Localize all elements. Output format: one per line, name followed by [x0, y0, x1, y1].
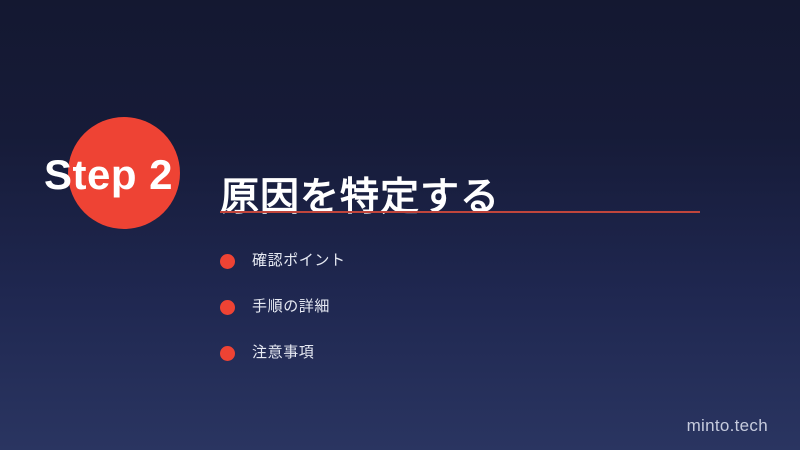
- bullet-item-label: 確認ポイント: [252, 251, 346, 271]
- list-item: 手順の詳細: [220, 284, 700, 330]
- list-item: 注意事項: [220, 330, 700, 376]
- page-title: 原因を特定する: [220, 174, 500, 222]
- bullet-item-label: 注意事項: [252, 343, 314, 363]
- bullet-list: 確認ポイント 手順の詳細 注意事項: [220, 238, 700, 376]
- footer-brand: minto.tech: [687, 416, 768, 436]
- bullet-dot-icon: [220, 254, 235, 269]
- bullet-dot-icon: [220, 346, 235, 361]
- list-item: 確認ポイント: [220, 238, 700, 284]
- slide-canvas: Step 2 原因を特定する 確認ポイント 手順の詳細 注意事項 minto.t…: [0, 0, 800, 450]
- bullet-dot-icon: [220, 300, 235, 315]
- title-divider: [220, 211, 700, 213]
- bullet-item-label: 手順の詳細: [252, 297, 330, 317]
- step-label: Step 2: [44, 152, 214, 198]
